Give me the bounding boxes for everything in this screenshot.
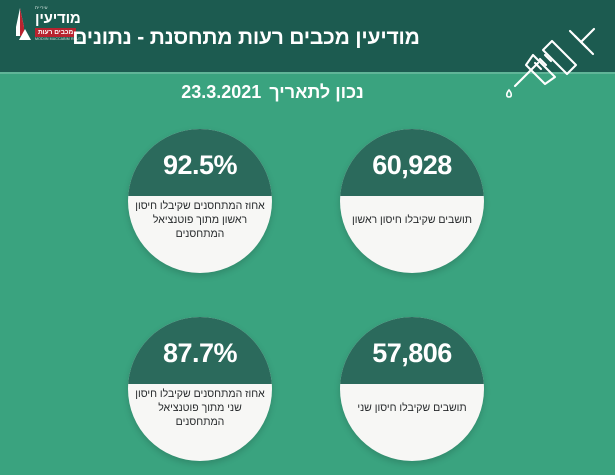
date-value: 23.3.2021 — [181, 82, 261, 102]
date-label: נכון לתאריך — [269, 82, 364, 102]
stat-value: 92.5% — [163, 150, 237, 181]
stat-caption: תושבים שקיבלו חיסון ראשון — [346, 213, 478, 227]
city-logo-name: מודיעין — [35, 11, 81, 26]
stat-caption: אחוז המתחסנים שקיבלו חיסון ראשון מתוך פו… — [134, 199, 266, 241]
stat-value: 57,806 — [372, 338, 452, 369]
syringe-with-droplet-icon — [497, 24, 601, 98]
stat-value: 87.7% — [163, 338, 237, 369]
date-line: נכון לתאריך23.3.2021 — [0, 82, 545, 103]
stat-card-first-dose-count: 60,928 תושבים שקיבלו חיסון ראשון — [340, 129, 484, 273]
page-title: מודיעין מכבים רעות מתחסנת - נתונים — [0, 26, 492, 50]
stat-value-panel: 60,928 — [340, 129, 484, 196]
stat-value: 60,928 — [372, 150, 452, 181]
stat-caption: אחוז המתחסנים שקיבלו חיסון שני מתוך פוטנ… — [134, 387, 266, 429]
stat-value-panel: 87.7% — [128, 317, 272, 384]
stat-card-first-dose-percent: 92.5% אחוז המתחסנים שקיבלו חיסון ראשון מ… — [128, 129, 272, 273]
stat-card-second-dose-percent: 87.7% אחוז המתחסנים שקיבלו חיסון שני מתו… — [128, 317, 272, 461]
stat-value-panel: 57,806 — [340, 317, 484, 384]
stat-caption: תושבים שקיבלו חיסון שני — [346, 401, 478, 415]
stat-value-panel: 92.5% — [128, 129, 272, 196]
infographic-poster: עיריית מודיעין מכבים רעות MODIIN MACCABI… — [0, 0, 615, 475]
stat-card-second-dose-count: 57,806 תושבים שקיבלו חיסון שני — [340, 317, 484, 461]
